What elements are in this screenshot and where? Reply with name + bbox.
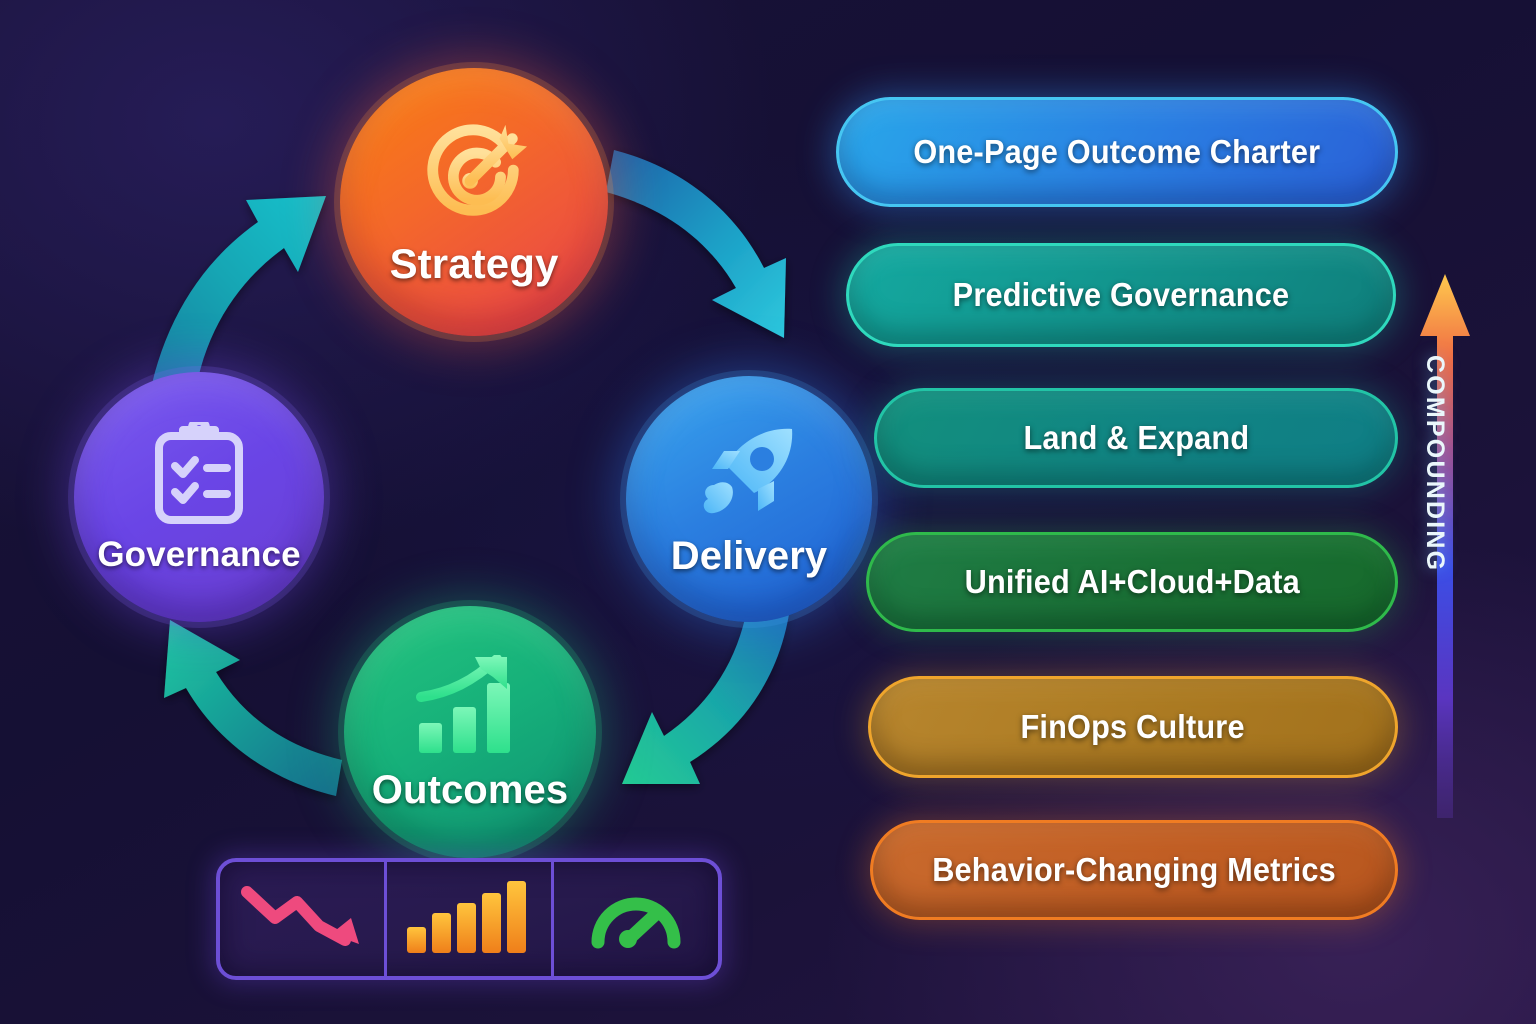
diagram-canvas: Strategy Delivery	[0, 0, 1536, 1024]
ascending-bars-icon	[405, 879, 533, 960]
rocket-icon	[696, 423, 802, 532]
pillar-pill[interactable]: Predictive Governance	[846, 243, 1396, 347]
pillar-label: One-Page Outcome Charter	[914, 133, 1321, 171]
pillar-label: Land & Expand	[1023, 419, 1249, 457]
cycle-node-delivery[interactable]: Delivery	[626, 376, 872, 622]
target-icon	[415, 120, 533, 237]
metric-cell-cost-down[interactable]	[220, 862, 384, 976]
pillar-pill[interactable]: FinOps Culture	[868, 676, 1398, 778]
pillar-label: FinOps Culture	[1021, 708, 1245, 746]
pillar-pill[interactable]: Land & Expand	[874, 388, 1398, 488]
arrow-strategy-to-delivery	[606, 150, 786, 338]
compounding-label: COMPOUNDING	[1420, 355, 1449, 675]
cycle-node-outcomes[interactable]: Outcomes	[344, 606, 596, 858]
pillar-label: Predictive Governance	[953, 276, 1290, 314]
cycle-node-label: Strategy	[390, 243, 559, 285]
pillar-pill[interactable]: Unified AI+Cloud+Data	[866, 532, 1398, 632]
arrow-governance-to-strategy	[152, 196, 326, 388]
bar-growth-icon	[415, 655, 525, 766]
cycle-node-label: Governance	[97, 537, 300, 572]
arrow-outcomes-to-governance	[164, 620, 342, 796]
gauge-icon	[588, 884, 684, 955]
cycle-node-label: Outcomes	[372, 770, 568, 810]
metrics-strip	[216, 858, 722, 980]
pillar-label: Unified AI+Cloud+Data	[964, 563, 1299, 601]
pillar-pill[interactable]: One-Page Outcome Charter	[836, 97, 1398, 207]
metric-cell-growth-bars[interactable]	[384, 862, 551, 976]
clipboard-checklist-icon	[151, 422, 247, 531]
cycle-node-strategy[interactable]: Strategy	[340, 68, 608, 336]
pillar-pill[interactable]: Behavior-Changing Metrics	[870, 820, 1398, 920]
cycle-node-governance[interactable]: Governance	[74, 372, 324, 622]
cycle-node-label: Delivery	[671, 536, 827, 576]
arrow-delivery-to-outcomes	[622, 604, 790, 784]
trend-down-arrow-icon	[239, 884, 365, 955]
metric-cell-health-gauge[interactable]	[551, 862, 718, 976]
pillar-label: Behavior-Changing Metrics	[932, 851, 1336, 889]
